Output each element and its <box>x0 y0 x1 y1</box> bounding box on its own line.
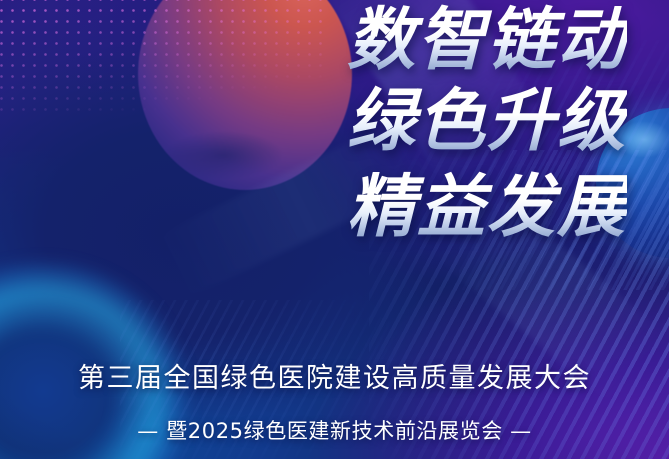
headline-block: 数智链动 绿色升级 精益发展 <box>157 4 627 244</box>
conference-poster: 数智链动 绿色升级 精益发展 第三届全国绿色医院建设高质量发展大会 — 暨202… <box>0 0 669 459</box>
headline-line-1: 数智链动 <box>157 4 627 77</box>
poster-content: 数智链动 绿色升级 精益发展 第三届全国绿色医院建设高质量发展大会 — 暨202… <box>0 0 669 459</box>
exhibition-subtitle: — 暨2025绿色医建新技术前沿展览会 — <box>0 415 669 445</box>
conference-title: 第三届全国绿色医院建设高质量发展大会 <box>0 356 669 395</box>
headline-line-2: 绿色升级 <box>157 85 627 158</box>
headline-line-3: 精益发展 <box>157 171 627 244</box>
